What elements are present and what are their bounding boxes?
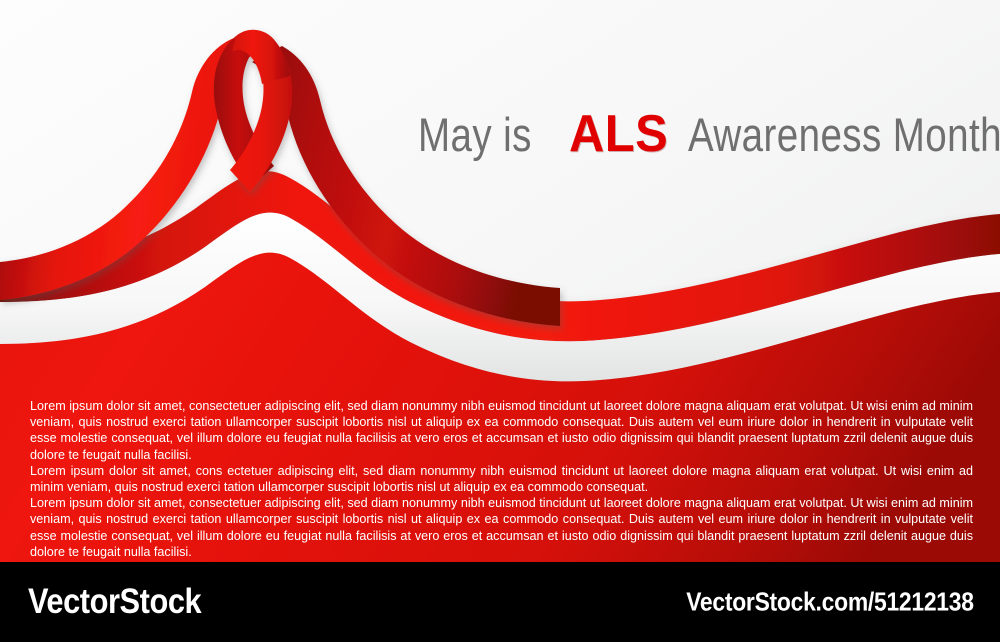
watermark-url: VectorStock.com/51212138 xyxy=(687,587,974,618)
body-paragraph: Lorem ipsum dolor sit amet, cons ectetue… xyxy=(30,463,973,495)
poster-canvas: May isALSAwareness Month Lorem ipsum dol… xyxy=(0,0,1000,642)
watermark-footer: VectorStock VectorStock.com/51212138 xyxy=(0,562,1000,642)
headline-accent: ALS xyxy=(569,104,668,164)
headline-suffix: Awareness Month xyxy=(688,105,1000,165)
body-paragraph: Lorem ipsum dolor sit amet, consectetuer… xyxy=(30,398,973,463)
watermark-brand: VectorStock xyxy=(28,582,201,622)
body-copy: Lorem ipsum dolor sit amet, consectetuer… xyxy=(30,398,973,576)
headline: May isALSAwareness Month xyxy=(418,104,938,164)
headline-prefix: May is xyxy=(418,105,532,165)
body-paragraph: Lorem ipsum dolor sit amet, consectetuer… xyxy=(30,495,973,560)
